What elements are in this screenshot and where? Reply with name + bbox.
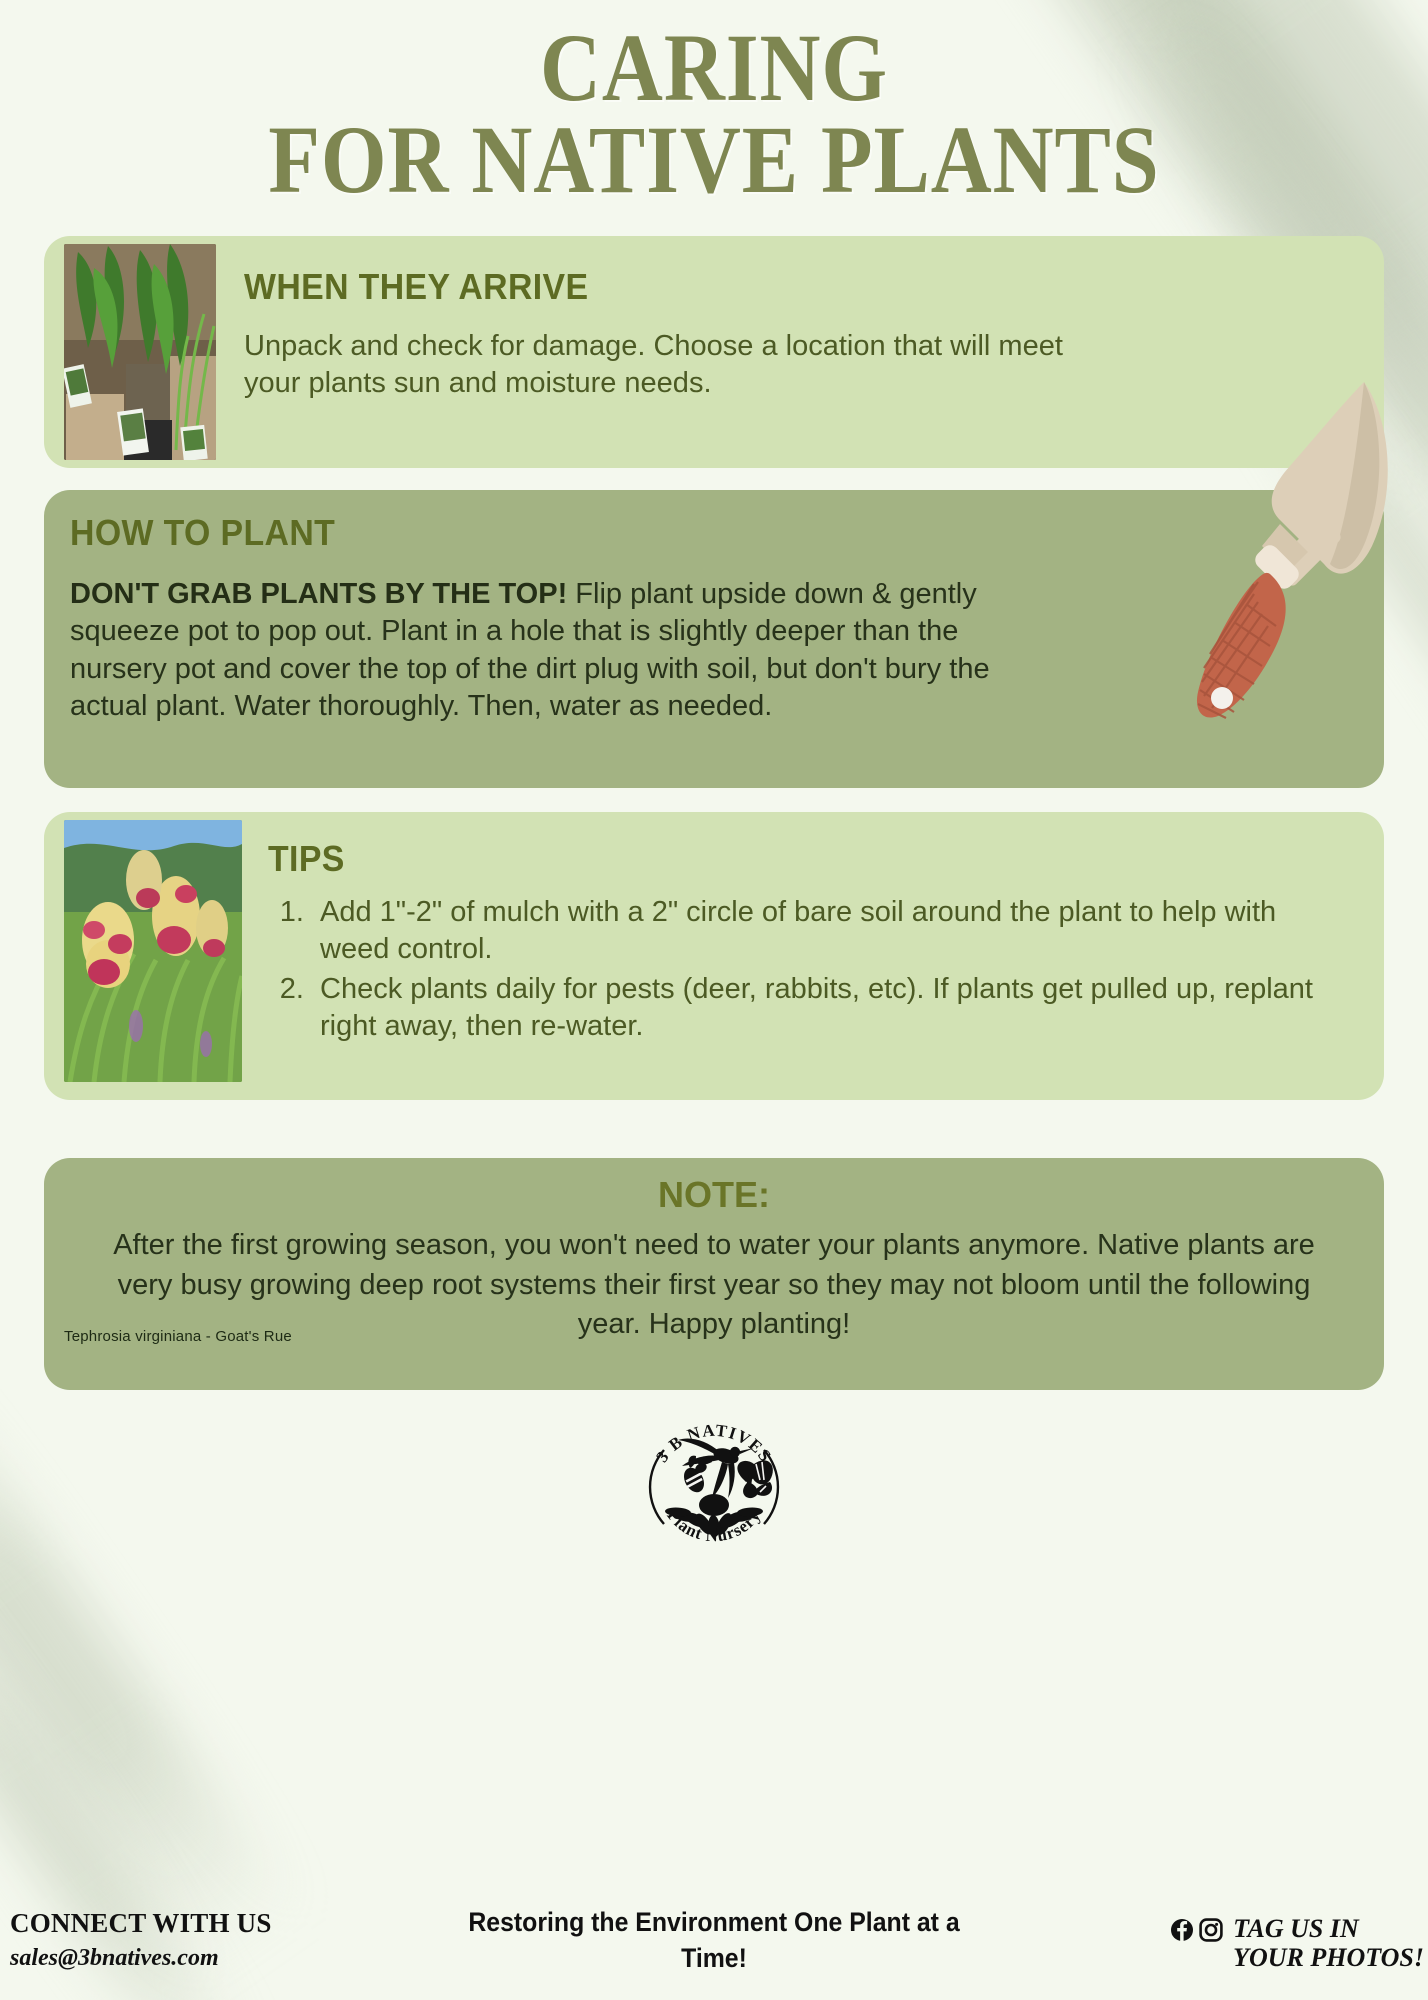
connect-email[interactable]: sales@3bnatives.com [10,1945,272,1972]
section-when-they-arrive: WHEN THEY ARRIVE Unpack and check for da… [44,236,1384,468]
tips-text-block: TIPS Add 1"-2" of mulch with a 2" circle… [242,820,1376,1046]
title-line-2: FOR NATIVE PLANTS [86,114,1343,206]
instagram-icon[interactable] [1199,1918,1223,1942]
photo-potted-plants [64,244,216,460]
section-tips: TIPS Add 1"-2" of mulch with a 2" circle… [44,812,1384,1100]
footer-social-block: TAG US IN YOUR PHOTOS! [1170,1914,1424,1972]
arrive-text-block: WHEN THEY ARRIVE Unpack and check for da… [216,244,1108,402]
plant-body-emphasis: DON'T GRAB PLANTS BY THE TOP! [70,578,567,610]
logo-icon: 3 B NATIVES Plant Nursery [634,1406,794,1566]
facebook-icon[interactable] [1170,1918,1194,1942]
page-title: CARING FOR NATIVE PLANTS [0,0,1428,206]
title-line-1: CARING [86,22,1343,114]
brand-logo: 3 B NATIVES Plant Nursery [0,1406,1428,1566]
photo-potted-plants-art [64,244,216,460]
section-how-to-plant: HOW TO PLANT DON'T GRAB PLANTS BY THE TO… [44,490,1384,788]
arrive-body: Unpack and check for damage. Choose a lo… [244,328,1074,402]
connect-label: CONNECT WITH US [10,1908,272,1939]
section-note: NOTE: After the first growing season, yo… [44,1158,1384,1390]
tips-heading: TIPS [268,838,1281,880]
note-body: After the first growing season, you won'… [94,1226,1334,1344]
list-item: Check plants daily for pests (deer, rabb… [312,971,1346,1045]
photo-caption: Tephrosia virginiana - Goat's Rue [64,1328,292,1345]
footer-connect-block: CONNECT WITH US sales@3bnatives.com [10,1908,272,1972]
tag-us-text: TAG US IN YOUR PHOTOS! [1233,1914,1424,1972]
photo-goats-rue [64,820,242,1082]
photo-goats-rue-art [64,820,242,1082]
footer: CONNECT WITH US sales@3bnatives.com Rest… [0,1880,1428,2000]
note-heading: NOTE: [94,1174,1334,1216]
poster-canvas: CARING FOR NATIVE PLANTS [0,0,1428,2000]
butterfly-icon [737,1461,772,1499]
arrive-heading: WHEN THEY ARRIVE [244,266,1024,308]
footer-tagline: Restoring the Environment One Plant at a… [456,1904,971,1976]
list-item: Add 1"-2" of mulch with a 2" circle of b… [312,894,1346,968]
tips-list: Add 1"-2" of mulch with a 2" circle of b… [268,894,1346,1044]
social-icons [1170,1914,1223,1942]
plant-body: DON'T GRAB PLANTS BY THE TOP! Flip plant… [70,576,1000,724]
plant-heading: HOW TO PLANT [70,512,1277,554]
